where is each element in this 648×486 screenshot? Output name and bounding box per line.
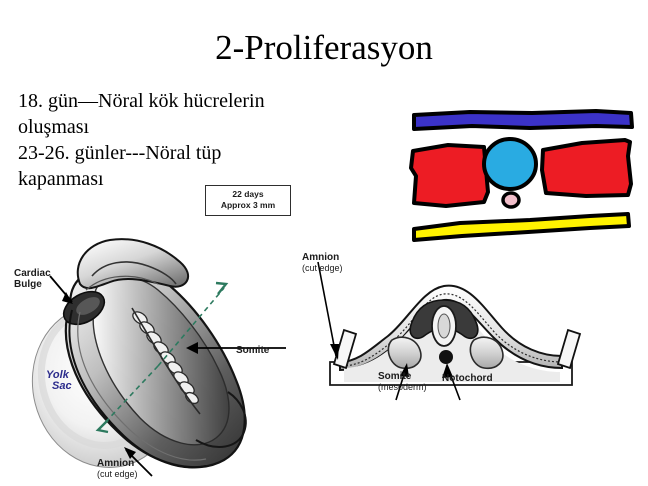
amnion-arrow — [330, 344, 339, 360]
body-line-2: oluşması — [18, 114, 318, 140]
label-somite-section: Somite (mesoderm) — [378, 371, 427, 393]
notochord-dot-shape — [439, 350, 453, 364]
notochord-dot-shape — [503, 193, 519, 207]
body-line-1: 18. gün—Nöral kök hücrelerin — [18, 88, 318, 114]
days-caption-line-1: 22 days — [210, 189, 286, 200]
neural-tube-circle-shape — [484, 139, 536, 189]
label-amnion-section: Amnion (cut edge) — [302, 252, 343, 274]
label-somite-embryo: Somite — [236, 345, 269, 356]
days-caption-box: 22 days Approx 3 mm — [205, 185, 291, 216]
embryo-illustration — [0, 228, 330, 486]
amnion-flap-right — [558, 330, 580, 368]
presentation-slide: 2-Proliferasyon 18. gün—Nöral kök hücrel… — [0, 0, 648, 486]
body-line-3: 23-26. günler---Nöral tüp — [18, 140, 318, 166]
days-caption-line-2: Approx 3 mm — [210, 200, 286, 211]
label-yolk-sac: Yolk Sac — [46, 370, 72, 392]
endoderm-bar-shape — [414, 214, 629, 240]
page-title: 2-Proliferasyon — [0, 26, 648, 70]
label-amnion-embryo: Amnion (cut edge) — [97, 458, 138, 480]
label-notochord-section: Notochord — [442, 373, 493, 384]
label-cardiac-bulge: Cardiac Bulge — [14, 268, 51, 290]
neural-canal-inner — [438, 314, 450, 338]
somite-block-left-shape — [411, 145, 488, 206]
slide-body-text: 18. gün—Nöral kök hücrelerin oluşması 23… — [18, 88, 318, 192]
ectoderm-bar-shape — [414, 111, 632, 129]
neural-tube-schematic — [400, 96, 644, 252]
amnion-leader — [318, 262, 336, 356]
somite-block-right-shape — [542, 140, 631, 196]
